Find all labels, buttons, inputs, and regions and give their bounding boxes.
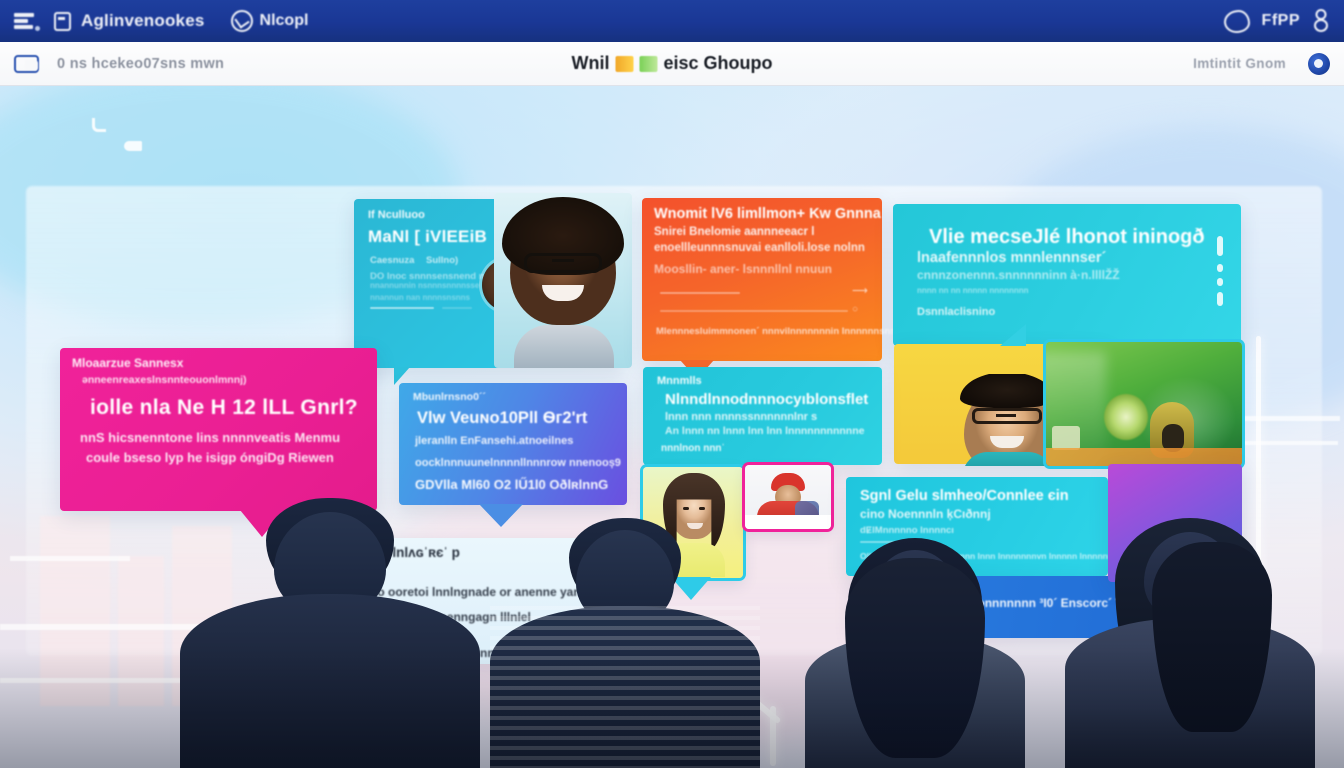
bubble-sub-1: lnaafennnlos mnnlennnser´	[917, 250, 1106, 266]
bubble-heading: Sgnl Gelu slmheo/Connlee єin	[860, 488, 1069, 504]
subbar-right-label[interactable]: Imtintit Gnom	[1193, 56, 1286, 71]
bubble-rule-1	[370, 307, 434, 309]
bubble-blue-violet[interactable]: Mbunlrnsno0´´ Vlw Veuɴo10Pll Ѳг2'rt jler…	[399, 383, 627, 505]
portrait-man-dreadlocks	[494, 193, 632, 368]
bubble-sub-1: lnnn nnn nnnnssnnnnnnlnr ѕ	[665, 411, 817, 423]
bubble-sub: ənneenreaxeslnsnnteouonlmnnj)	[82, 374, 247, 386]
bubble-foot: Dsnnlaclisnino	[917, 306, 995, 318]
scroll-dots[interactable]	[1217, 236, 1223, 256]
silhouette-person-2	[490, 518, 760, 768]
info-dot-icon: ○	[852, 304, 858, 315]
bubble-meta-left: Caesnuza	[370, 255, 414, 266]
browser-topbar: Aglinvenookes Nlcopl FfPP	[0, 0, 1344, 42]
bubble-body-2: coule bseso lyp he isigp óngiDg Riewen	[86, 450, 334, 465]
bubble-body-3: nnannun nan nnnnsnsnns	[370, 293, 470, 302]
bubble-heading: Nlnndlnnodnnnoсyıblonsflet	[665, 391, 868, 408]
bubble-foot: Mlennnesluimmnonen´ nnnvilnnnnnnnin Innn…	[656, 326, 905, 337]
bubble-body-1: nnS hicsnenntone lins nnnnveatis Menmu	[80, 430, 340, 445]
silhouette-person-3	[790, 538, 1040, 768]
bubble-foot: nnnlnon nnnˈ	[661, 443, 725, 454]
menu-lines-icon[interactable]	[14, 11, 40, 31]
bubble-heading: iolle nla Ne H 12 lLL Gnrl?	[90, 396, 358, 420]
bubble-heading: Wnomit lV6 limllmon+ Kw Gnnna	[654, 206, 881, 222]
bubble-heading: Vlie mecseJlé lhonot ininogð	[929, 226, 1205, 249]
scroll-dot-3	[1217, 278, 1223, 286]
bubble-sub-3: GDVlla Ml60 O2 lŰ1l0 OðlʀlnnG	[415, 477, 608, 492]
striped-shirt-pattern	[490, 606, 760, 768]
bubble-heading: MaNl [ iVlEEiB	[368, 227, 487, 247]
browser-subbar: 0 ns hcekeo07sns mwn Wnil eisc Ghoupo Im…	[0, 42, 1344, 86]
bubble-orange-alert[interactable]: Wnomit lV6 limllmon+ Kw Gnnna Snirei Bne…	[642, 198, 882, 361]
bubble-sub-2: enoellleunnnsnuvai eanlloli.lose nolnn	[654, 242, 865, 254]
bubble-sub-2: dɆlMnnnnno lnnnncı	[860, 525, 954, 536]
cursor-mark-1	[92, 118, 106, 132]
app-window-icon[interactable]	[54, 12, 71, 31]
cursor-mark-2	[124, 141, 142, 151]
bubble-body-2: nnannunnin nsnnnsnnnnsse	[370, 281, 479, 290]
topbar-secondary-label[interactable]: Nlcopl	[260, 12, 309, 30]
illustration-canvas: If Nculluoo MaNl [ iVlEEiB Caesnuza Sull…	[0, 86, 1344, 768]
bubble-teal-profile[interactable]: If Nculluoo MaNl [ iVlEEiB Caesnuza Sull…	[354, 199, 626, 368]
card-tail	[1000, 324, 1026, 346]
bubble-rule-2	[660, 310, 848, 312]
browser-window: Aglinvenookes Nlcopl FfPP 0 ns hcekeo07s…	[0, 0, 1344, 768]
bubble-sub-3: Moosllin- aner- lsnnnllnl nnuun	[654, 262, 832, 276]
bubble-eyebrow: If Nculluoo	[368, 209, 425, 221]
photo-green-scene[interactable]	[1046, 342, 1242, 466]
bubble-sub-2: An lnnn nn lnnn lnn lnn lnnnnnnnnnnne	[665, 425, 864, 437]
page-title: Wnil eisc Ghoupo	[571, 53, 772, 74]
page-title-prefix: Wnil	[571, 53, 609, 74]
globe-clock-icon[interactable]	[231, 10, 253, 32]
bubble-cyan-wide[interactable]: Vlie mecseJlé lhonot ininogð lnaafennnlo…	[893, 204, 1241, 346]
oval-outline-icon[interactable]	[1224, 10, 1250, 33]
send-arrow-icon[interactable]: ⟶	[852, 284, 868, 297]
bubble-meta-right: Sullno)	[426, 255, 458, 266]
bubble-rule-1	[660, 292, 740, 294]
bubble-sub-3: nnnn nn nn nnnnn nnnnnnnn	[917, 286, 1029, 295]
bubble-cyan-mid[interactable]: Mnnmlls Nlnndlnnodnnnoсyıblonsflet lnnn …	[643, 367, 882, 465]
topbar-title: Aglinvenookes	[81, 11, 205, 31]
page-title-suffix: eisc Ghoupo	[663, 53, 772, 74]
silhouette-person-4	[1050, 518, 1330, 768]
bubble-sub-1: Snirei Bnelomie aannneeacr l	[654, 226, 814, 238]
user-avatar-icon[interactable]	[1308, 53, 1330, 75]
bubble-eyebrow: Mnnmlls	[657, 375, 702, 387]
bubble-sub-2: oocklnnnuunelnnnnllnnnrow nnenooș9	[415, 457, 621, 469]
bubble-rule-2	[442, 307, 472, 309]
breadcrumb: 0 ns hcekeo07sns mwn	[57, 56, 224, 72]
bubble-eyebrow: Mloaarzue Sannesx	[72, 356, 183, 370]
bubble-pink-large[interactable]: Mloaarzue Sannesx ənneenreaxeslnsnnteouo…	[60, 348, 377, 511]
bubble-eyebrow: Mbunlrnsno0´´	[413, 391, 486, 403]
person-icon[interactable]	[1312, 9, 1330, 33]
bubble-sub-1: cino Noennnln ķCıðnnj	[860, 507, 991, 521]
bg-glow-bar-vert-1	[770, 706, 776, 766]
tab-badge-icon[interactable]	[14, 55, 39, 73]
bubble-heading: Vlw Veuɴo10Pll Ѳг2'rt	[417, 409, 587, 428]
topbar-right-label: FfPP	[1262, 12, 1300, 30]
scroll-dot-4	[1217, 292, 1223, 306]
bubble-sub-1: jleranlln EnFansehi.atnoeilnes	[415, 435, 573, 447]
scroll-dot-2	[1217, 264, 1223, 272]
color-chip-green-icon	[639, 56, 657, 72]
silhouette-person-1	[180, 498, 480, 768]
color-chip-yellow-icon	[615, 56, 633, 72]
bubble-sub-2: cnnnzonennn.snnnnnninn à·n.llllŽŽ	[917, 268, 1120, 282]
